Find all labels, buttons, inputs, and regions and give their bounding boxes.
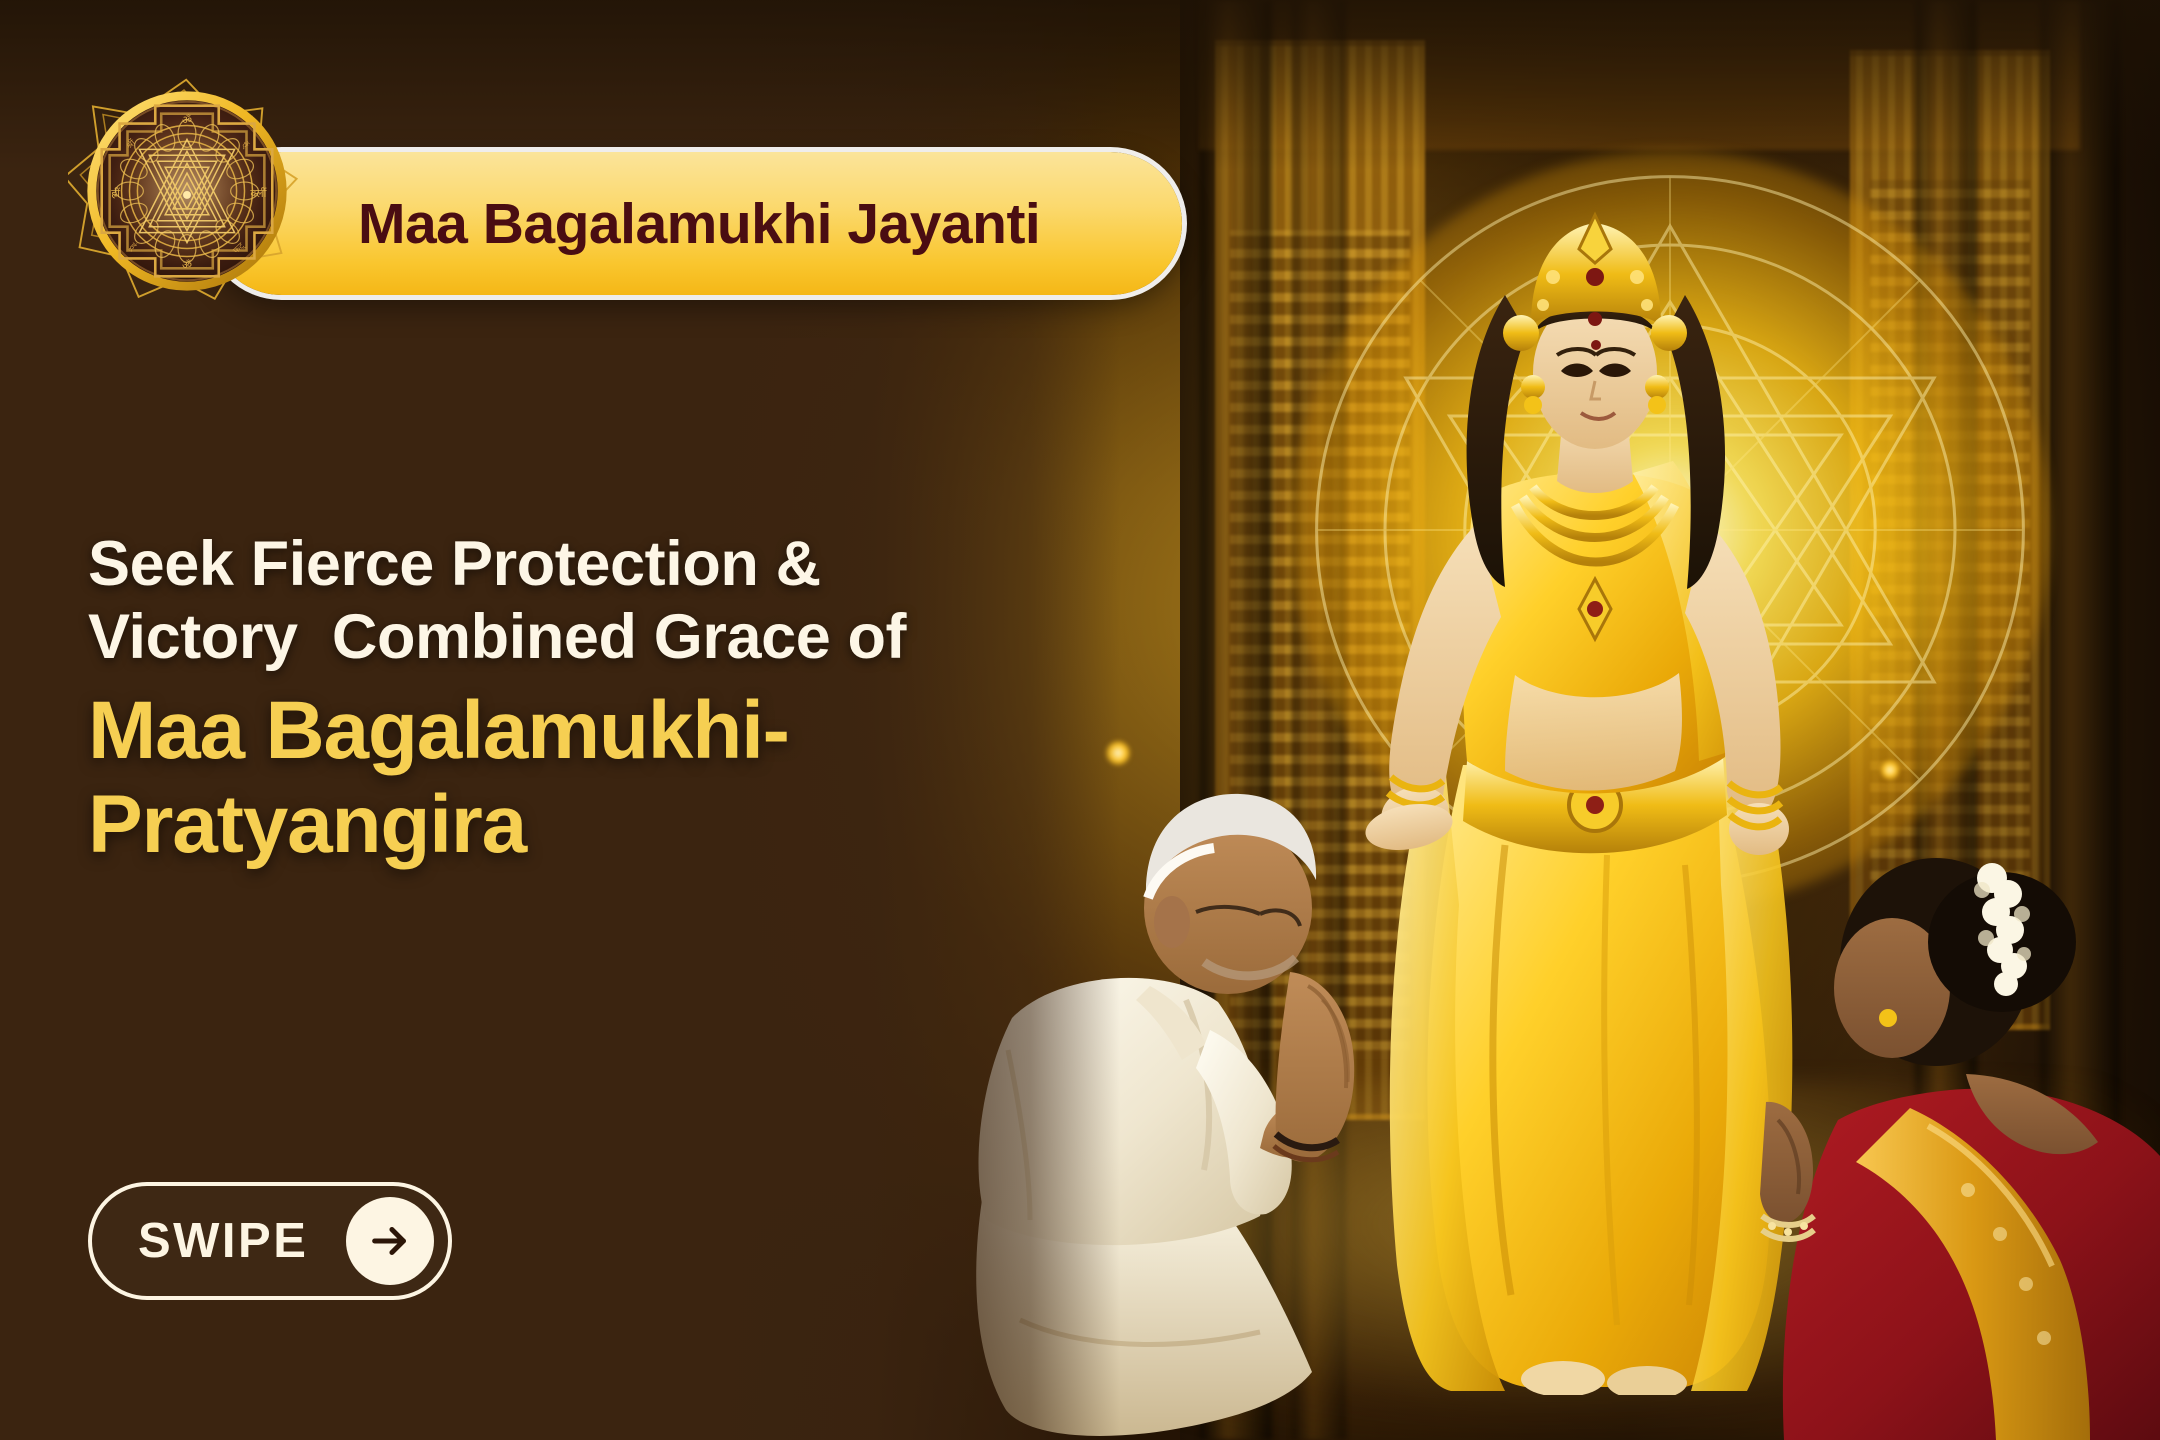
headline-line-2: Victory Combined Grace of [88,601,1088,674]
poster-canvas: Maa Bagalamukhi Jayanti [0,0,2160,1440]
headline-line-1: Seek Fierce Protection & [88,528,1088,601]
svg-text:ॐ: ॐ [182,258,192,271]
event-title-badge: Maa Bagalamukhi Jayanti [210,152,1182,295]
event-title-label: Maa Bagalamukhi Jayanti [358,191,1040,257]
top-gradient-scrim [0,0,2160,170]
devotee-woman [1760,790,2160,1440]
oil-lamp-flame [1880,760,1900,780]
headline-gold-line-2: Pratyangira [88,778,1088,871]
arrow-right-icon[interactable] [346,1197,434,1285]
swipe-button-label: SWIPE [138,1213,308,1269]
headline-gold-line-1: Maa Bagalamukhi- [88,684,1088,777]
swipe-button[interactable]: SWIPE [88,1182,452,1300]
headline-block: Seek Fierce Protection & Victory Combine… [88,528,1088,871]
sri-yantra-emblem-icon: ॐ ॐ ह्रीं क्लीं श्रीं ऐं हूं फट् [68,72,306,310]
